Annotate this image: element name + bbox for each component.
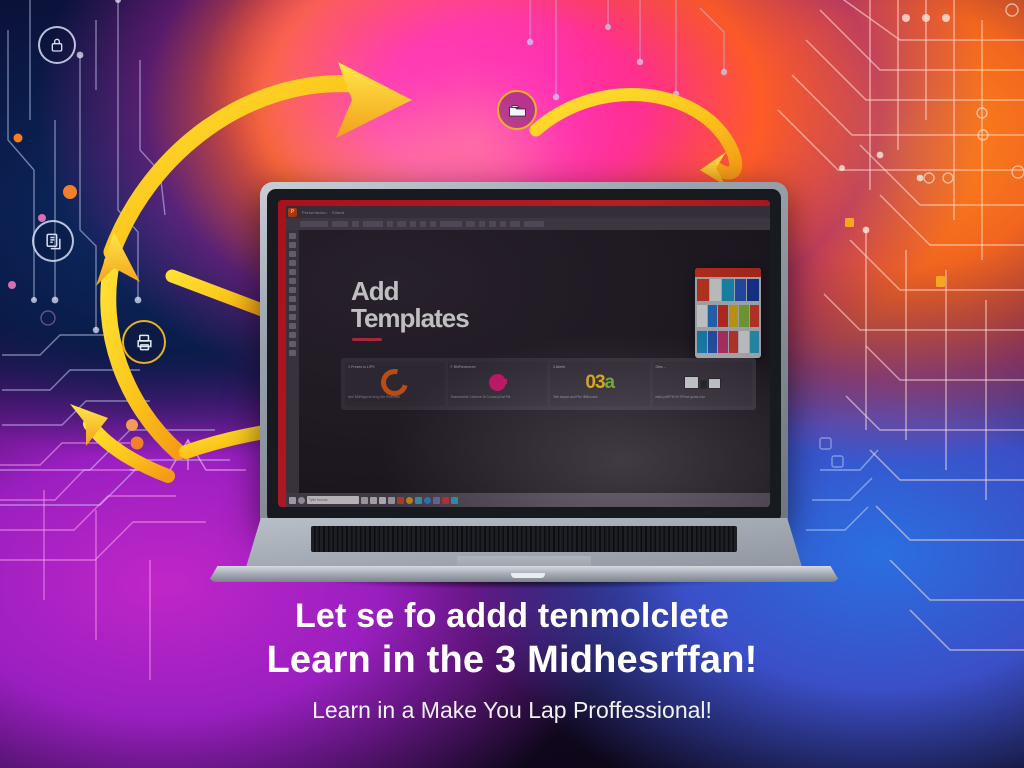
laptop-deck [244, 518, 804, 574]
caption-line-2: Learn in the 3 Midhesrffan! [0, 638, 1024, 684]
laptop-latch-notch [511, 573, 545, 578]
laptop-bezel: P Presentation Sliaed [267, 189, 781, 523]
caption-line-3: Learn in a Make You Lap Proffessional! [0, 696, 1024, 726]
laptop-lid: P Presentation Sliaed [260, 182, 788, 530]
laptop-base [196, 518, 852, 592]
caption-block: Let se fo addd tenmolclete Learn in the … [0, 596, 1024, 726]
laptop-keyboard [311, 526, 737, 552]
arrow-top-descend [536, 95, 736, 186]
poster-canvas: P Presentation Sliaed [0, 0, 1024, 768]
screen-reflection [278, 200, 770, 507]
arrow-left-up [96, 232, 178, 452]
laptop-mockup: P Presentation Sliaed [196, 182, 852, 592]
caption-line-1: Let se fo addd tenmolclete [0, 596, 1024, 636]
laptop-screen: P Presentation Sliaed [278, 200, 770, 507]
